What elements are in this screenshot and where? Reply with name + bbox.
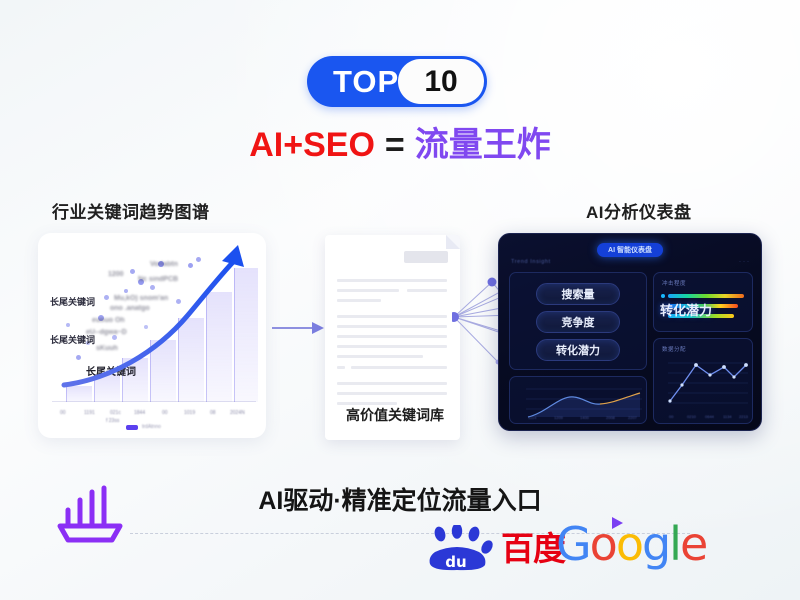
metric-pill-competition[interactable]: 竞争度 [536, 311, 620, 333]
axis-tick: 00 [162, 410, 168, 416]
google-letter: g [642, 517, 669, 571]
axis-tick: 2024N [230, 410, 245, 416]
axis-tick: 00 [60, 410, 66, 416]
axis-tick: 1844 [134, 410, 145, 416]
doc-header-chip [404, 251, 448, 263]
doc-line [337, 299, 381, 302]
metric-pills-panel: 搜索量 竞争度 转化潜力 [509, 272, 647, 370]
axis-tick: 1209 [554, 415, 563, 420]
left-section-caption: 行业关键词趋势图谱 [52, 198, 210, 223]
metric-pill-conversion[interactable]: 转化潜力 [536, 339, 620, 361]
axis-tick: 00 [669, 414, 673, 419]
keyword-trend-card: Vorlabtn Nc sindPCB Mu,kO) snom'an ono .… [38, 233, 266, 438]
axis-tick: 0210 [687, 414, 696, 419]
google-letter: e [680, 517, 706, 571]
gradient-bar [668, 294, 744, 298]
play-triangle-icon [612, 517, 623, 529]
bar-marker [661, 294, 665, 298]
dashboard-brand: Trend Insight [511, 259, 551, 265]
axis-tick: 1191 [84, 410, 95, 416]
ai-dashboard-panel: AI 智能仪表盘 Trend Insight ··· 搜索量 竞争度 转化潜力 … [498, 233, 762, 431]
doc-line [337, 279, 447, 282]
google-letter: l [669, 517, 680, 571]
doc-line [351, 366, 447, 369]
axis-tick: 2207 [628, 415, 637, 420]
top-badge-word: TOP [333, 66, 399, 97]
document-caption: 高价值关键词库 [331, 405, 459, 425]
doc-line [407, 289, 447, 292]
google-letter: G [556, 517, 590, 571]
axis-tick: 1400 [580, 415, 589, 420]
axis-tick: 021c [110, 410, 121, 416]
doc-line [337, 325, 447, 328]
google-logo: Google [556, 521, 706, 567]
axis-tick: 1019 [184, 410, 195, 416]
doc-line [337, 289, 399, 292]
line-chart [654, 339, 754, 425]
chart-legend: trdAtnno [126, 424, 161, 430]
legend-swatch [126, 425, 138, 430]
flow-arrow-icon [272, 321, 324, 335]
baidu-latin-text: du [445, 553, 466, 571]
trend-arrow-icon [38, 233, 266, 438]
axis-tick: 08 [210, 410, 216, 416]
panel-title: 冲击程度 [662, 279, 686, 287]
axis-tick: 2008 [606, 415, 615, 420]
headline-right: 流量王炸 [415, 126, 551, 164]
doc-bullet [337, 366, 345, 369]
dashboard-menu-icon[interactable]: ··· [739, 259, 751, 265]
top-ranking-badge: TOP 10 [307, 56, 487, 107]
trend-chart: Vorlabtn Nc sindPCB Mu,kO) snom'an ono .… [38, 233, 266, 438]
page-title: AI+SEO=流量王炸 [0, 128, 800, 162]
top-badge-number: 10 [424, 67, 457, 97]
conversion-potential-overlay: 转化潜力 [660, 300, 712, 319]
data-distribution-panel: 数据分配 00 0210 0644 1134 2213 [653, 338, 753, 424]
dashboard-header-badge: AI 智能仪表盘 [597, 243, 663, 257]
right-section-caption: AI分析仪表盘 [586, 198, 692, 223]
doc-line [337, 345, 447, 348]
baidu-logo: du 百度 [423, 525, 565, 571]
doc-line [337, 355, 423, 358]
chart-axis [52, 401, 256, 402]
metric-pill-search-volume[interactable]: 搜索量 [536, 283, 620, 305]
headline-equals: = [385, 126, 405, 164]
headline-left: AI+SEO [249, 126, 375, 164]
doc-line [337, 335, 447, 338]
axis-tick: 2213 [739, 414, 748, 419]
axis-tick: 0644 [705, 414, 714, 419]
doc-line [337, 382, 447, 385]
bar-chart-pedestal-icon [48, 478, 132, 550]
axis-tick: 1134 [723, 414, 732, 419]
axis-caption: f 23ss [106, 418, 119, 424]
area-chart-panel: 1114 1209 1400 2008 2207 [509, 376, 647, 424]
top-badge-number-pill: 10 [398, 59, 484, 104]
doc-line [337, 392, 447, 395]
doc-line [337, 315, 447, 318]
axis-tick: 1114 [528, 415, 536, 420]
legend-label: trdAtnno [142, 424, 161, 430]
baidu-paw-icon: du [423, 525, 499, 571]
